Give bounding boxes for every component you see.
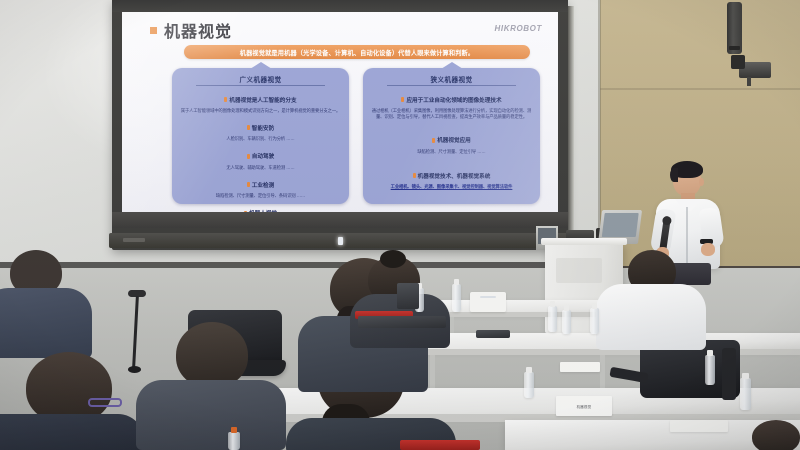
person-head bbox=[176, 322, 248, 388]
panel-heading: 狭义机器视觉 bbox=[387, 72, 516, 86]
display-bottom-bezel bbox=[112, 212, 568, 228]
water-bottle[interactable] bbox=[452, 284, 461, 312]
slide-definition-banner: 机器视觉就是用机器（光学设备、计算机、自动化设备）代替人眼来做计算和判断。 bbox=[184, 45, 530, 59]
bullet-marker-icon bbox=[413, 173, 416, 178]
person-torso bbox=[136, 380, 286, 450]
section-heading-text: 机器视觉应用 bbox=[437, 136, 471, 144]
person-head bbox=[752, 420, 800, 450]
person-torso bbox=[596, 284, 706, 350]
water-bottle[interactable] bbox=[740, 378, 751, 410]
section-heading: 机器视觉技术、机器视觉系统 bbox=[413, 172, 491, 180]
section-heading: 机器视觉是人工智能的分支 bbox=[224, 96, 296, 104]
name-card-text: 机器视觉 bbox=[577, 404, 592, 409]
slide-title: 机器视觉 bbox=[150, 18, 232, 42]
square-bullet-icon bbox=[150, 27, 157, 34]
panel-narrow-machine-vision: 狭义机器视觉 应用于工业自动化领域的图像处理技术 通过相机（工业相机）采集图像，… bbox=[363, 68, 540, 204]
section-body: 缺陷检测、尺寸测量、定位引导、条码识别 …… bbox=[182, 193, 339, 199]
section-heading: 机器视觉应用 bbox=[432, 136, 471, 144]
water-bottle[interactable] bbox=[562, 310, 571, 334]
slide-title-text: 机器视觉 bbox=[164, 18, 232, 42]
person-torso bbox=[0, 288, 92, 358]
water-bottle[interactable] bbox=[548, 306, 557, 332]
panel-section: 机器视觉技术、机器视觉系统 工业相机、镜头、光源、图像采集卡、视觉控制器、视觉算… bbox=[371, 165, 532, 190]
person-torso bbox=[0, 414, 144, 450]
section-heading-text: 自动驾驶 bbox=[252, 152, 274, 160]
display-top-bezel bbox=[112, 0, 568, 12]
section-body: 无人驾驶、辅助驾驶、车道检测 …… bbox=[182, 165, 339, 171]
red-folder[interactable] bbox=[400, 440, 480, 450]
tablet-device[interactable] bbox=[476, 330, 510, 338]
presenter-ear bbox=[699, 178, 704, 186]
paper-document[interactable] bbox=[560, 362, 600, 372]
banner-text: 机器视觉就是用机器（光学设备、计算机、自动化设备）代替人眼来做计算和判断。 bbox=[240, 47, 475, 56]
water-bottle[interactable] bbox=[705, 355, 715, 385]
wall-panel-joint bbox=[600, 88, 800, 90]
microphone-stand-base bbox=[128, 366, 141, 373]
section-heading: 智能安防 bbox=[247, 124, 274, 132]
section-heading: 工业检测 bbox=[247, 181, 274, 189]
section-heading: 应用于工业自动化领域的图像处理技术 bbox=[401, 96, 501, 104]
bullet-marker-icon bbox=[401, 97, 404, 102]
bullet-marker-icon bbox=[432, 138, 435, 143]
wall-display[interactable]: 机器视觉 HIKROBOT 机器视觉就是用机器（光学设备、计算机、自动化设备）代… bbox=[112, 0, 568, 250]
display-brand-mark bbox=[123, 238, 145, 242]
panel-section: 工业检测 缺陷检测、尺寸测量、定位引导、条码识别 …… bbox=[180, 174, 341, 199]
panel-section: 机器视觉是人工智能的分支 属于人工智能领域中的图像处理和模式识别方向之一，是计算… bbox=[180, 89, 341, 114]
bullet-marker-icon bbox=[247, 125, 250, 130]
hikrobot-logo: HIKROBOT bbox=[495, 24, 542, 33]
bullet-marker-icon bbox=[247, 182, 250, 187]
water-bottle[interactable] bbox=[524, 372, 534, 398]
eyeglasses-icon bbox=[88, 398, 122, 407]
panel-section: 智能安防 人脸识别、车辆识别、行为分析 …… bbox=[180, 117, 341, 142]
laptop-closed[interactable] bbox=[358, 316, 446, 328]
person-hair-bun bbox=[380, 250, 406, 268]
presenter-right-hand bbox=[701, 243, 715, 256]
section-body: 属于人工智能领域中的图像处理和模式识别方向之一，是计算机视觉的重要分支之一。 bbox=[180, 108, 341, 114]
camera-mount-arm bbox=[747, 77, 751, 86]
slide-columns: 广义机器视觉 机器视觉是人工智能的分支 属于人工智能领域中的图像处理和模式识别方… bbox=[172, 68, 540, 204]
camera-lens-icon bbox=[731, 55, 745, 69]
chair-armrest bbox=[722, 348, 736, 400]
section-body: 人脸识别、车辆识别、行为分析 …… bbox=[182, 136, 339, 142]
panel-heading: 广义机器视觉 bbox=[196, 72, 325, 86]
section-heading-text: 工业检测 bbox=[252, 181, 274, 189]
display-power-led-icon bbox=[338, 237, 343, 245]
lectern-front-panel bbox=[556, 258, 602, 283]
presentation-room-scene: 机器视觉 HIKROBOT 机器视觉就是用机器（光学设备、计算机、自动化设备）代… bbox=[0, 0, 800, 450]
laptop-screen[interactable] bbox=[397, 283, 419, 309]
panel-broad-machine-vision: 广义机器视觉 机器视觉是人工智能的分支 属于人工智能领域中的图像处理和模式识别方… bbox=[172, 68, 349, 204]
panel-section: 自动驾驶 无人驾驶、辅助驾驶、车道检测 …… bbox=[180, 146, 341, 171]
water-bottle-orange-cap[interactable] bbox=[228, 432, 240, 450]
section-heading-text: 智能安防 bbox=[252, 124, 274, 132]
table-leg bbox=[600, 355, 605, 389]
name-card: 机器视觉 bbox=[556, 396, 612, 416]
section-heading-text: 应用于工业自动化领域的图像处理技术 bbox=[406, 96, 501, 104]
panel-section: 机器视觉应用 缺陷检测、尺寸测量、定位引导 …… bbox=[371, 130, 532, 155]
panel-section: 应用于工业自动化领域的图像处理技术 通过相机（工业相机）采集图像，利用图像处理算… bbox=[371, 89, 532, 121]
section-body: 通过相机（工业相机）采集图像，利用图像处理算法进行分析，实现自动化的检测、测量、… bbox=[371, 108, 532, 121]
paper-document[interactable] bbox=[670, 420, 728, 432]
section-body-link: 工业相机、镜头、光源、图像采集卡、视觉控制器、视觉算法软件 bbox=[371, 184, 532, 190]
ceiling-speaker-icon bbox=[727, 2, 742, 54]
wall-camera-icon bbox=[739, 62, 771, 78]
section-body: 缺陷检测、尺寸测量、定位引导 …… bbox=[373, 149, 530, 155]
presenter-hair-side bbox=[670, 168, 678, 182]
section-heading: 自动驾驶 bbox=[247, 152, 274, 160]
bullet-marker-icon bbox=[224, 97, 227, 102]
water-bottle[interactable] bbox=[590, 308, 599, 334]
slide-canvas: 机器视觉 HIKROBOT 机器视觉就是用机器（光学设备、计算机、自动化设备）代… bbox=[122, 12, 558, 212]
panel-section: 机器人视觉 视觉导航、物体抓取、分拣 bbox=[180, 203, 341, 212]
section-heading-text: 机器视觉是人工智能的分支 bbox=[229, 96, 296, 104]
tissue-box[interactable] bbox=[470, 292, 506, 312]
presenter-shirt-placket bbox=[686, 207, 688, 263]
bullet-marker-icon bbox=[247, 154, 250, 159]
display-side-edge bbox=[568, 6, 574, 236]
lectern-top bbox=[541, 238, 627, 245]
section-heading-text: 机器视觉技术、机器视觉系统 bbox=[418, 172, 491, 180]
